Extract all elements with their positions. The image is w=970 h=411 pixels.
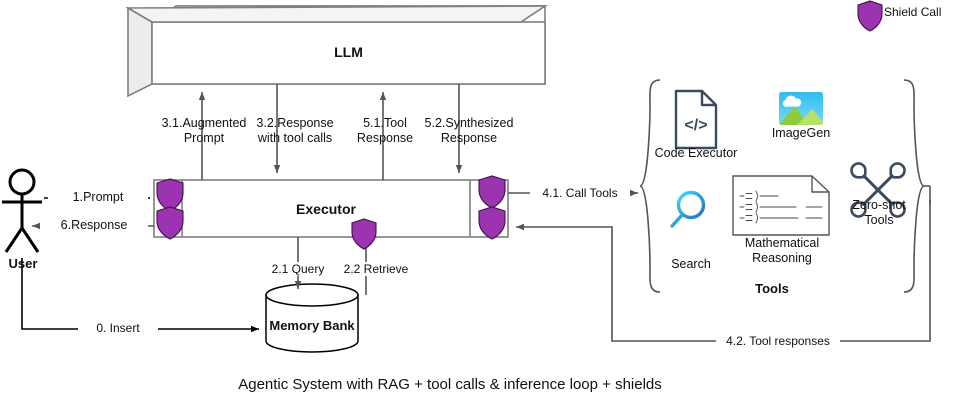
diagram-caption: Agentic System with RAG + tool calls & i… bbox=[0, 376, 900, 394]
edge-label-synthesized-response: 5.2.Synthesized Response bbox=[411, 116, 527, 146]
tool-label-code-executor: Code Executor bbox=[646, 146, 746, 161]
edge-label-insert: 0. Insert bbox=[78, 321, 158, 335]
diagram-canvas: </> bbox=[0, 0, 970, 411]
edge-label-tool-responses: 4.2. Tool responses bbox=[716, 334, 840, 348]
edge-insert bbox=[22, 258, 259, 329]
math-document-icon bbox=[733, 176, 829, 235]
code-document-icon: </> bbox=[676, 91, 716, 148]
tool-label-imagegen: ImageGen bbox=[761, 126, 841, 141]
edge-label-query: 2.1 Query bbox=[256, 262, 340, 276]
magnifier-icon bbox=[672, 193, 704, 227]
legend-label: Shield Call bbox=[884, 5, 970, 19]
tool-label-search: Search bbox=[656, 257, 726, 272]
tool-label-mathematical-reasoning: Mathematical Reasoning bbox=[730, 236, 834, 266]
svg-text:</>: </> bbox=[684, 117, 707, 134]
executor-label: Executor bbox=[182, 201, 470, 217]
tool-label-zero-shot-tools: Zero-shot Tools bbox=[840, 198, 918, 228]
edge-label-retrieve: 2.2 Retrieve bbox=[330, 262, 422, 276]
user-node[interactable] bbox=[2, 170, 42, 252]
tools-group-label: Tools bbox=[712, 281, 832, 296]
diagram-shapes-layer: </> bbox=[0, 0, 970, 411]
edge-label-prompt: 1.Prompt bbox=[48, 190, 148, 205]
memory-bank-label: Memory Bank bbox=[258, 318, 366, 333]
llm-label: LLM bbox=[152, 44, 545, 60]
tools-right-brace bbox=[904, 80, 924, 292]
image-icon bbox=[779, 92, 826, 125]
edge-label-call-tools: 4.1. Call Tools bbox=[530, 186, 630, 200]
shield-icon-legend bbox=[858, 1, 882, 31]
shield-icon-memory bbox=[352, 219, 376, 249]
edge-label-response: 6.Response bbox=[40, 218, 148, 233]
user-label: User bbox=[0, 256, 46, 271]
